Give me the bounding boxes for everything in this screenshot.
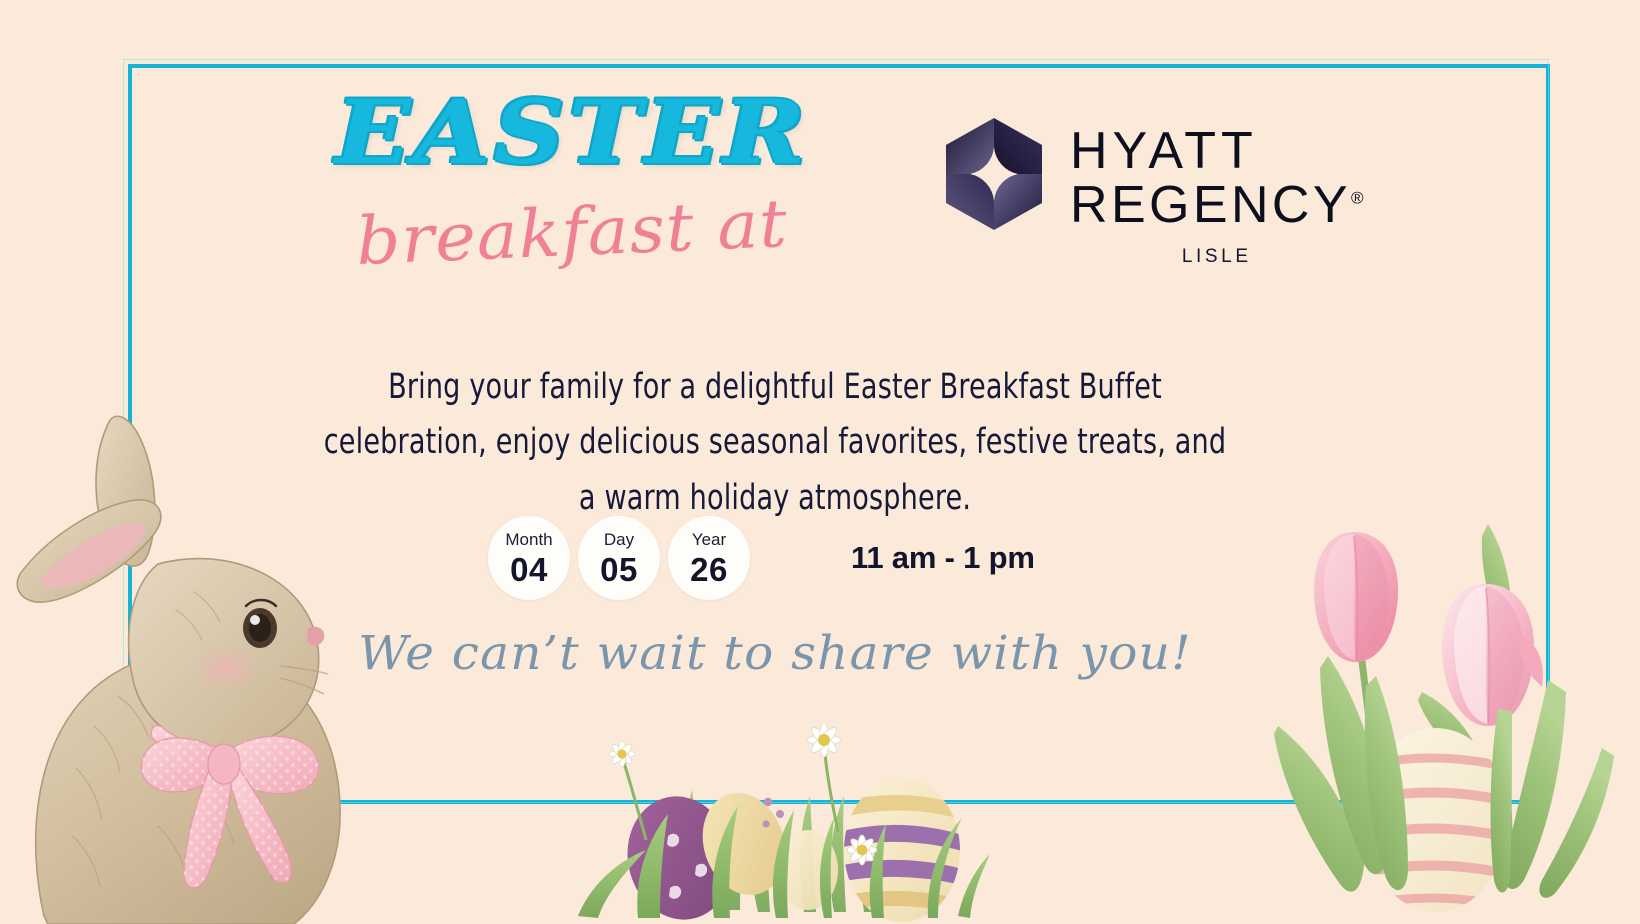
page-subtitle-breakfast-at: breakfast at	[248, 185, 895, 281]
logo-wordmark: HYATT REGENCY® LISLE	[1070, 114, 1364, 268]
date-badge-day-label: Day	[604, 531, 634, 548]
date-badge-year-value: 26	[690, 553, 728, 586]
date-badge-year-label: Year	[692, 531, 726, 548]
page-title-easter: EASTER	[225, 88, 919, 176]
event-date-row: Month 04 Day 05 Year 26 11 am - 1 pm	[488, 516, 1035, 600]
date-badge-month-value: 04	[510, 553, 548, 586]
logo-hyatt-text: HYATT	[1070, 124, 1364, 178]
date-badge-day-value: 05	[600, 553, 638, 586]
easter-breakfast-flyer: EASTER breakfast at	[0, 0, 1640, 924]
tulips-illustration	[1236, 480, 1640, 924]
hyatt-hexagon-icon	[940, 114, 1048, 234]
event-time: 11 am - 1 pm	[851, 540, 1035, 576]
date-badge-year: Year 26	[668, 516, 750, 600]
date-badge-day: Day 05	[578, 516, 660, 600]
registered-trademark-icon: ®	[1351, 189, 1364, 208]
date-badge-month: Month 04	[488, 516, 570, 600]
logo-regency-text: REGENCY®	[1070, 178, 1364, 232]
title-stack: EASTER breakfast at	[262, 88, 882, 267]
logo-property-lisle: LISLE	[1070, 246, 1364, 268]
easter-eggs-illustration	[572, 690, 992, 924]
closing-message: We can’t wait to share with you!	[224, 626, 1326, 681]
logo-regency-label: REGENCY	[1070, 176, 1351, 234]
date-badge-month-label: Month	[505, 531, 552, 548]
hyatt-regency-logo: HYATT REGENCY® LISLE	[940, 114, 1364, 268]
event-description: Bring your family for a delightful Easte…	[315, 360, 1235, 526]
